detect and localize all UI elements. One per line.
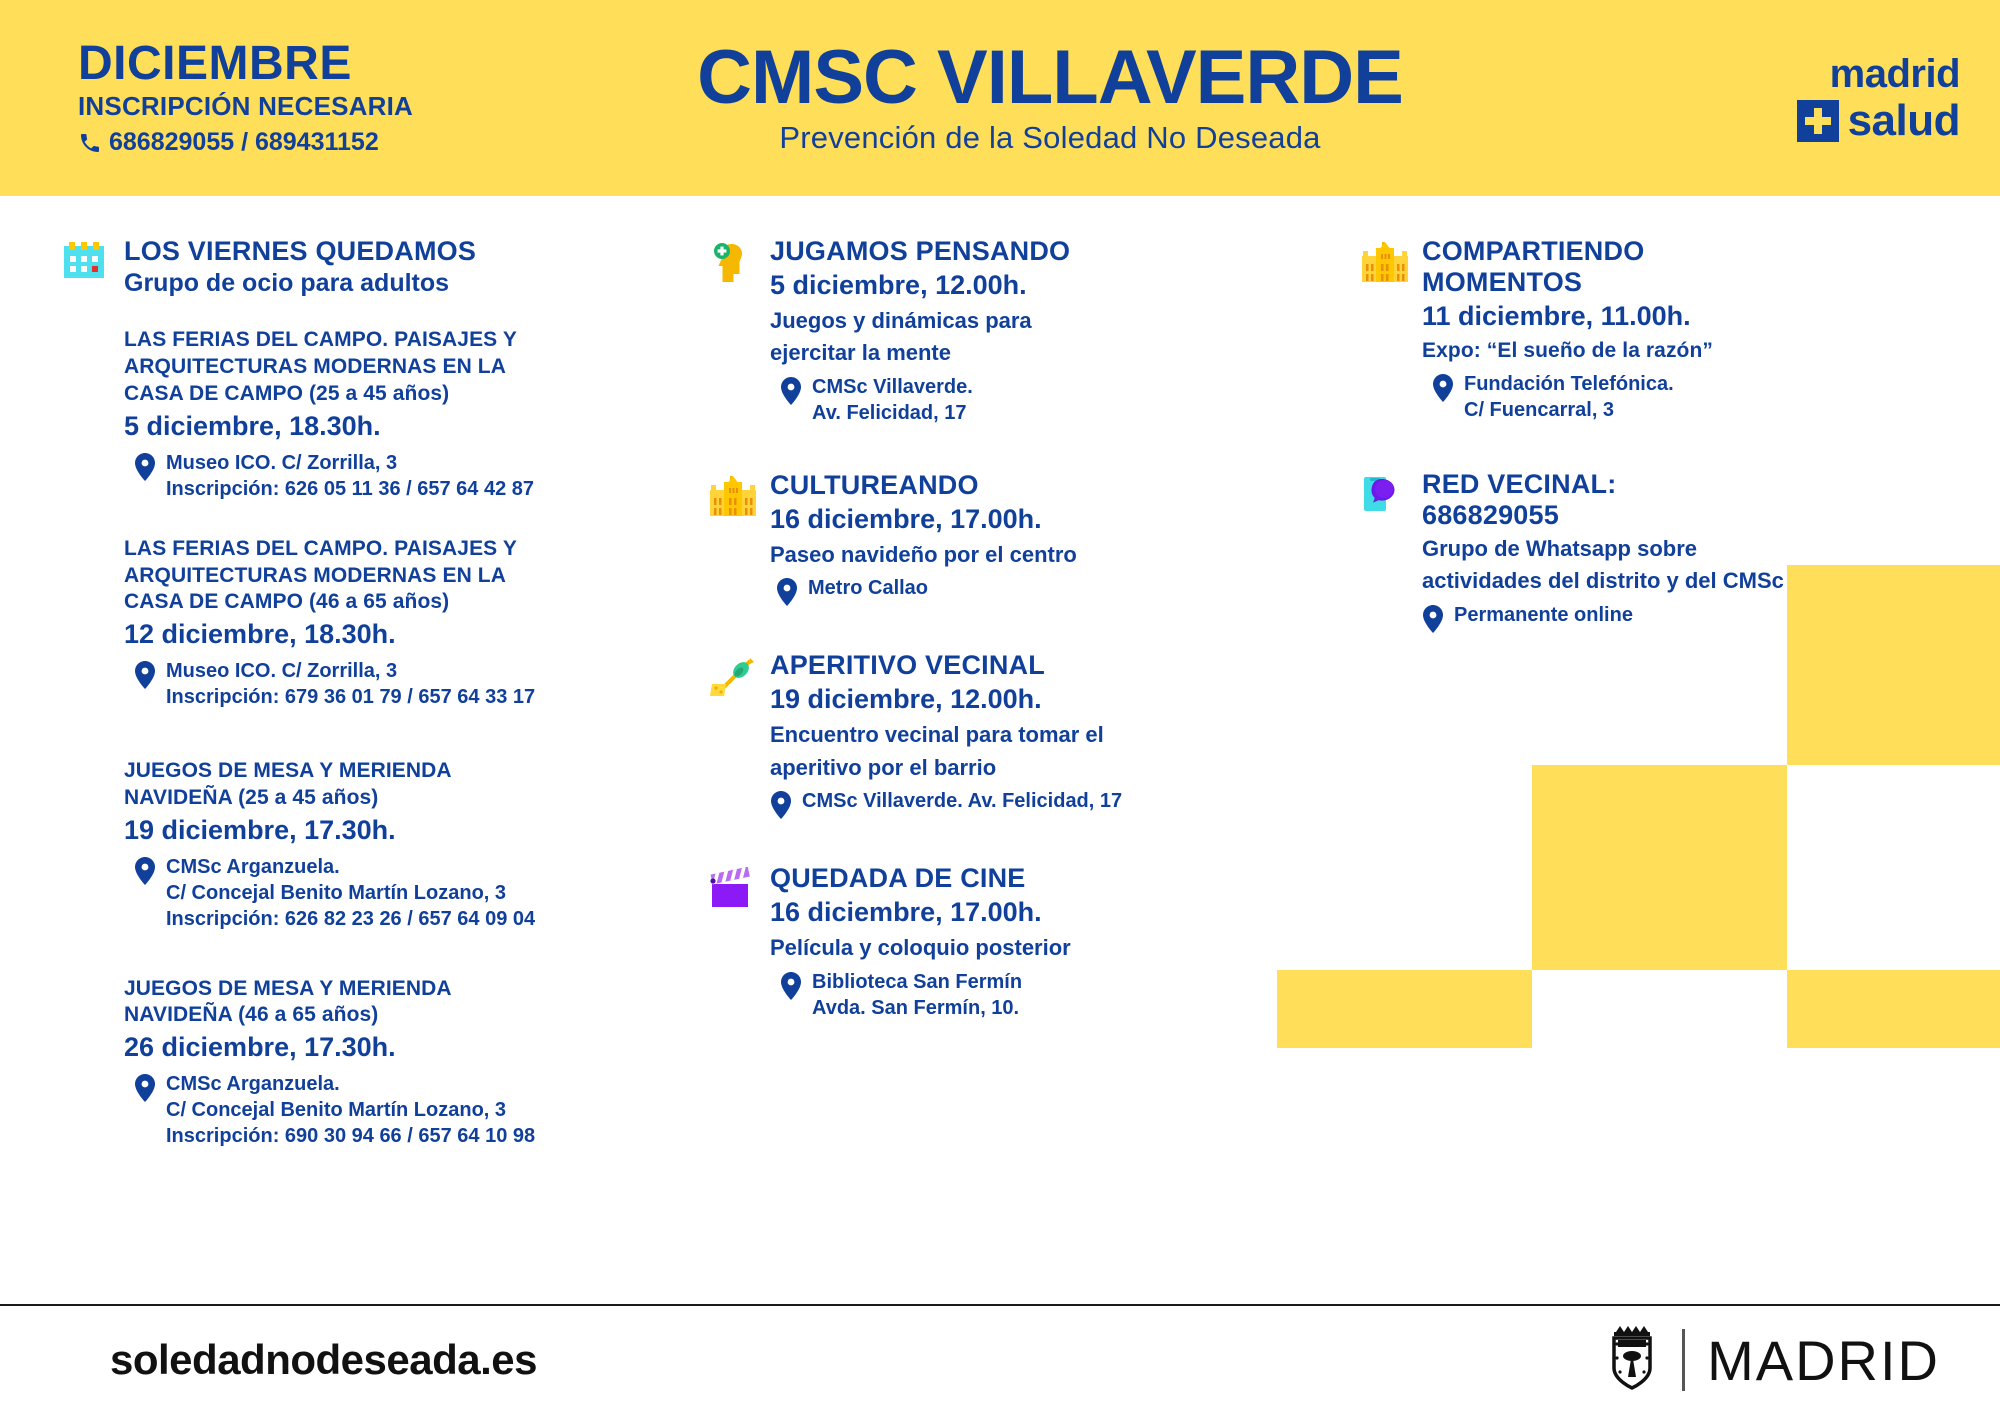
activity-description-line: aperitivo por el barrio [770,754,1330,783]
location-line: Biblioteca San Fermín [812,969,1022,995]
event-item: JUEGOS DE MESA Y MERIENDA NAVIDEÑA (46 a… [124,976,690,1150]
event-name-line: CASA DE CAMPO (46 a 65 años) [124,589,690,616]
activity-subtitle: Grupo de ocio para adultos [124,268,690,299]
activity-location-text: Biblioteca San Fermín Avda. San Fermín, … [812,969,1022,1021]
event-item: LAS FERIAS DEL CAMPO. PAISAJES Y ARQUITE… [124,327,690,501]
location-line: CMSc Villaverde. [812,374,973,400]
registration-note: INSCRIPCIÓN NECESARIA [78,91,470,122]
activity-location-row: Permanente online [1422,602,2000,633]
activity-block-cultureando: CULTUREANDO 16 diciembre, 17.00h. Paseo … [708,470,1330,606]
location-pin-icon [134,1071,156,1149]
location-line: Av. Felicidad, 17 [812,400,973,426]
activity-body: COMPARTIENDO MOMENTOS 11 diciembre, 11.0… [1422,236,2000,423]
event-name-line: LAS FERIAS DEL CAMPO. PAISAJES Y [124,536,690,563]
activity-title: CULTUREANDO [770,470,1330,501]
activity-location-text: Fundación Telefónica. C/ Fuencarral, 3 [1464,371,1674,423]
location-pin-icon [1432,371,1454,423]
location-line: Inscripción: 626 05 11 36 / 657 64 42 87 [166,476,534,502]
activity-body: CULTUREANDO 16 diciembre, 17.00h. Paseo … [770,470,1330,606]
header-center: CMSC VILLAVERDE Prevención de la Soledad… [430,40,1670,156]
activity-title-line: COMPARTIENDO [1422,236,2000,267]
event-name-line: NAVIDEÑA (46 a 65 años) [124,1002,690,1029]
event-name-line: LAS FERIAS DEL CAMPO. PAISAJES Y [124,327,690,354]
activity-body: QUEDADA DE CINE 16 diciembre, 17.00h. Pe… [770,863,1330,1020]
clapperboard-icon [708,863,770,1020]
palace-icon [708,470,770,606]
activity-block-aperitivo-vecinal: APERITIVO VECINAL 19 diciembre, 12.00h. … [708,650,1330,819]
madrid-salud-logo-line2: salud [1848,99,1960,143]
location-line: C/ Concejal Benito Martín Lozano, 3 [166,1097,535,1123]
location-line: Metro Callao [808,575,928,601]
activity-location-text: CMSc Villaverde. Av. Felicidad, 17 [802,788,1122,819]
location-line: Inscripción: 690 30 94 66 / 657 64 10 98 [166,1123,535,1149]
location-line: Avda. San Fermín, 10. [812,995,1022,1021]
activity-body: APERITIVO VECINAL 19 diciembre, 12.00h. … [770,650,1330,819]
event-name-line: ARQUITECTURAS MODERNAS EN LA [124,354,690,381]
location-line: Fundación Telefónica. [1464,371,1674,397]
month-label: DICIEMBRE [78,39,470,89]
event-location-text: Museo ICO. C/ Zorrilla, 3 Inscripción: 6… [166,450,534,502]
activity-body: LOS VIERNES QUEDAMOS Grupo de ocio para … [124,236,690,1149]
activity-location-row: Fundación Telefónica. C/ Fuencarral, 3 [1422,371,2000,423]
location-pin-icon [1422,602,1444,633]
column-2: JUGAMOS PENSANDO 5 diciembre, 12.00h. Ju… [690,236,1330,1175]
location-line: C/ Concejal Benito Martín Lozano, 3 [166,880,535,906]
activity-body: RED VECINAL: 686829055 Grupo de Whatsapp… [1422,469,2000,633]
event-location-row: CMSc Arganzuela. C/ Concejal Benito Mart… [124,1071,690,1149]
event-location-row: CMSc Arganzuela. C/ Concejal Benito Mart… [124,854,690,932]
location-line: Permanente online [1454,602,1633,628]
website-url[interactable]: soledadnodeseada.es [110,1336,537,1384]
activity-block-compartiendo-momentos: COMPARTIENDO MOMENTOS 11 diciembre, 11.0… [1360,236,2000,423]
event-location-text: CMSc Arganzuela. C/ Concejal Benito Mart… [166,1071,535,1149]
activity-date: 5 diciembre, 12.00h. [770,269,1330,303]
activity-date: 19 diciembre, 12.00h. [770,683,1330,717]
activity-location-row: Metro Callao [770,575,1330,606]
activity-location-row: CMSc Villaverde. Av. Felicidad, 17 [770,788,1330,819]
location-line: Museo ICO. C/ Zorrilla, 3 [166,658,535,684]
activity-title: JUGAMOS PENSANDO [770,236,1330,267]
tapas-skewer-icon [708,650,770,819]
event-location-row: Museo ICO. C/ Zorrilla, 3 Inscripción: 6… [124,450,690,502]
activity-body: JUGAMOS PENSANDO 5 diciembre, 12.00h. Ju… [770,236,1330,426]
location-pin-icon [134,450,156,502]
location-line: CMSc Villaverde. Av. Felicidad, 17 [802,788,1122,814]
activity-title-line: RED VECINAL: [1422,469,2000,500]
event-date: 26 diciembre, 17.30h. [124,1031,690,1065]
event-date: 12 diciembre, 18.30h. [124,618,690,652]
header-phone-row: 686829055 / 689431152 [78,128,470,157]
activity-title: LOS VIERNES QUEDAMOS [124,236,690,267]
phone-numbers: 686829055 / 689431152 [109,128,379,157]
location-pin-icon [780,374,802,426]
location-line: CMSc Arganzuela. [166,854,535,880]
logo-divider [1682,1329,1685,1391]
event-date: 5 diciembre, 18.30h. [124,410,690,444]
event-name-line: JUEGOS DE MESA Y MERIENDA [124,758,690,785]
madrid-salud-logo-line2-row: salud [1797,99,1960,143]
page-tagline: Prevención de la Soledad No Deseada [430,120,1670,156]
event-item: LAS FERIAS DEL CAMPO. PAISAJES Y ARQUITE… [124,536,690,710]
poster-header: DICIEMBRE INSCRIPCIÓN NECESARIA 68682905… [0,0,2000,196]
event-date: 19 diciembre, 17.30h. [124,814,690,848]
event-name-line: CASA DE CAMPO (25 a 45 años) [124,381,690,408]
activity-description-line: Juegos y dinámicas para [770,307,1330,336]
activity-title: APERITIVO VECINAL [770,650,1330,681]
event-location-row: Museo ICO. C/ Zorrilla, 3 Inscripción: 6… [124,658,690,710]
activity-description-line: actividades del distrito y del CMSc [1422,567,2000,596]
activity-location-text: CMSc Villaverde. Av. Felicidad, 17 [812,374,973,426]
head-mind-icon [708,236,770,426]
location-pin-icon [134,658,156,710]
calendar-icon [62,236,124,1149]
activity-location-row: Biblioteca San Fermín Avda. San Fermín, … [770,969,1330,1021]
activity-description-line: Expo: “El sueño de la razón” [1422,338,2000,365]
location-pin-icon [780,969,802,1021]
location-pin-icon [770,788,792,819]
activity-description-line: ejercitar la mente [770,339,1330,368]
activity-location-text: Permanente online [1454,602,1633,633]
activities-columns: LOS VIERNES QUEDAMOS Grupo de ocio para … [0,196,2000,1175]
poster-footer: soledadnodeseada.es MADRID [0,1304,2000,1414]
activity-block-los-viernes-quedamos: LOS VIERNES QUEDAMOS Grupo de ocio para … [62,236,690,1149]
phone-icon [78,131,102,155]
activity-description-line: Paseo navideño por el centro [770,541,1330,570]
activity-description-line: Encuentro vecinal para tomar el [770,721,1330,750]
location-line: Inscripción: 679 36 01 79 / 657 64 33 17 [166,684,535,710]
madrid-salud-logo: madrid salud [1670,54,2000,143]
activity-block-jugamos-pensando: JUGAMOS PENSANDO 5 diciembre, 12.00h. Ju… [708,236,1330,426]
activity-location-text: Metro Callao [808,575,928,606]
event-location-text: CMSc Arganzuela. C/ Concejal Benito Mart… [166,854,535,932]
activity-date: 16 diciembre, 17.00h. [770,503,1330,537]
palace-icon [1360,236,1422,423]
location-line: Inscripción: 626 82 23 26 / 657 64 09 04 [166,906,535,932]
page-title: CMSC VILLAVERDE [430,40,1670,116]
event-item: JUEGOS DE MESA Y MERIENDA NAVIDEÑA (25 a… [124,758,690,932]
column-1: LOS VIERNES QUEDAMOS Grupo de ocio para … [0,236,690,1175]
activity-description-line: Grupo de Whatsapp sobre [1422,535,2000,564]
location-line: C/ Fuencarral, 3 [1464,397,1674,423]
activity-title: QUEDADA DE CINE [770,863,1330,894]
activity-title-line: 686829055 [1422,500,2000,531]
activity-title-line: MOMENTOS [1422,267,2000,298]
activity-block-red-vecinal: RED VECINAL: 686829055 Grupo de Whatsapp… [1360,469,2000,633]
event-name-line: ARQUITECTURAS MODERNAS EN LA [124,563,690,590]
madrid-brand-text: MADRID [1707,1328,1940,1393]
location-pin-icon [134,854,156,932]
column-3: COMPARTIENDO MOMENTOS 11 diciembre, 11.0… [1330,236,2000,1175]
event-name-line: JUEGOS DE MESA Y MERIENDA [124,976,690,1003]
madrid-coat-of-arms-icon [1604,1324,1660,1396]
activity-location-row: CMSc Villaverde. Av. Felicidad, 17 [770,374,1330,426]
location-line: Museo ICO. C/ Zorrilla, 3 [166,450,534,476]
activity-description-line: Película y coloquio posterior [770,934,1330,963]
madrid-city-logo: MADRID [1604,1324,1940,1396]
location-pin-icon [776,575,798,606]
activity-date: 16 diciembre, 17.00h. [770,896,1330,930]
madrid-salud-logo-line1: madrid [1830,54,1960,94]
activity-date: 11 diciembre, 11.00h. [1422,300,2000,334]
location-line: CMSc Arganzuela. [166,1071,535,1097]
activity-block-quedada-de-cine: QUEDADA DE CINE 16 diciembre, 17.00h. Pe… [708,863,1330,1020]
health-cross-icon [1797,100,1839,142]
event-location-text: Museo ICO. C/ Zorrilla, 3 Inscripción: 6… [166,658,535,710]
whatsapp-phone-icon [1360,469,1422,633]
header-left: DICIEMBRE INSCRIPCIÓN NECESARIA 68682905… [0,39,470,157]
event-name-line: NAVIDEÑA (25 a 45 años) [124,785,690,812]
